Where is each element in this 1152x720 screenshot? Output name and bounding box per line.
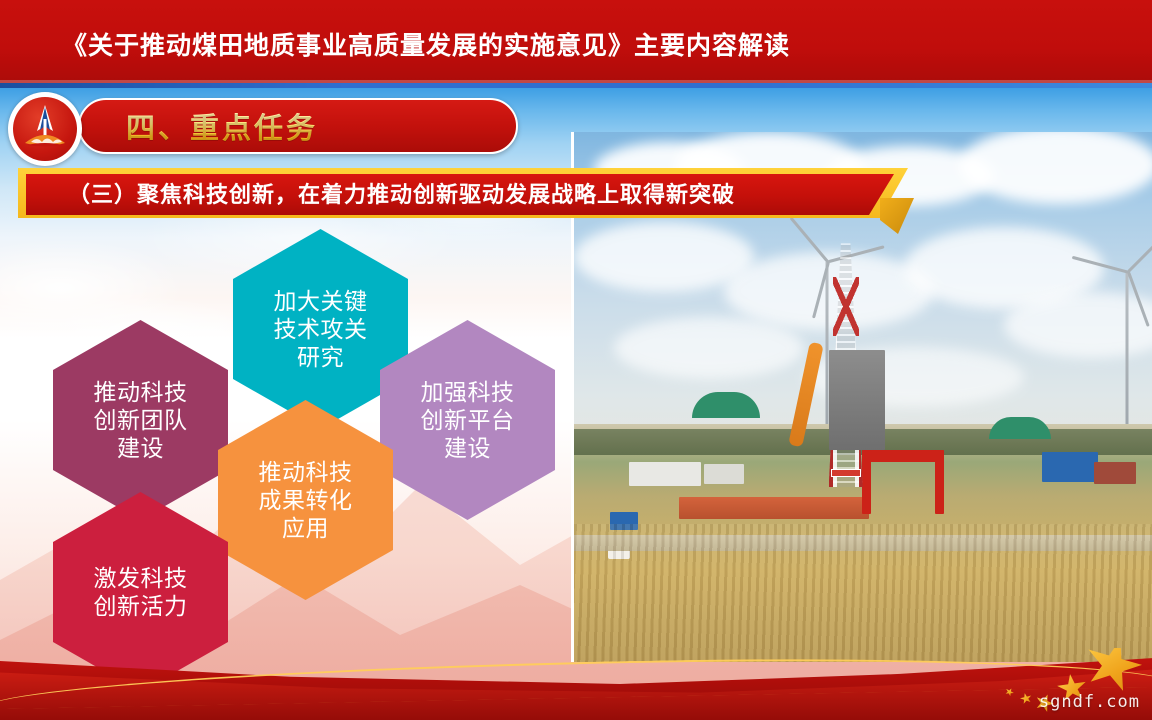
coalfield-geology-emblem-icon [8,92,82,166]
photo-site-gate [862,450,944,462]
photo-site-roof [679,497,869,519]
presentation-slide: 加大关键 技术攻关 研究 推动科技 创新团队 建设 加强科技 创新平台 建设 推… [0,0,1152,720]
rig-name-plate [831,469,861,477]
hexagon-line: 技术攻关 [274,315,368,343]
photo-site-building [704,464,744,484]
hexagon-line: 创新活力 [94,592,188,620]
hexagon-label: 推动科技 成果转化 应用 [259,458,353,542]
photo-site-tent [989,417,1051,439]
hexagon-line: 激发科技 [94,564,188,592]
rig-base-structure [829,350,885,450]
hexagon-achievement-transfer[interactable]: 推动科技 成果转化 应用 [218,400,393,600]
hexagon-label: 加大关键 技术攻关 研究 [274,287,368,371]
star-icon [1019,692,1033,706]
hexagon-line: 加强科技 [421,378,515,406]
hexagon-innovation-team[interactable]: 推动科技 创新团队 建设 [53,320,228,520]
photo-field-furrows [574,524,1152,662]
slide-header: 《关于推动煤田地质事业高质量发展的实施意见》主要内容解读 [0,0,1152,88]
page-title: 《关于推动煤田地质事业高质量发展的实施意见》主要内容解读 [62,26,790,62]
banner-body: （三）聚焦科技创新，在着力推动创新驱动发展战略上取得新突破 [18,168,908,218]
photo-site-container [1042,452,1098,482]
hexagon-line: 研究 [274,343,368,371]
hexagon-line: 推动科技 [259,458,353,486]
hexagon-label: 加强科技 创新平台 建设 [421,378,515,462]
hexagon-line: 创新团队 [94,406,188,434]
subtitle-label: （三）聚焦科技创新，在着力推动创新驱动发展战略上取得新突破 [68,177,735,209]
header-stripe-blue [0,83,1152,88]
hexagon-line: 建设 [94,434,188,462]
hexagon-label: 推动科技 创新团队 建设 [94,378,188,462]
hexagon-line: 加大关键 [274,287,368,315]
hexagon-line: 建设 [421,434,515,462]
photo-site-building [629,462,701,486]
turbine-blade [1127,272,1149,327]
rig-cross-brace [833,277,859,336]
emblem-inner [13,97,77,161]
hexagon-line: 应用 [259,514,353,542]
photo-site-container [1094,462,1136,484]
photo-cloud [614,317,804,379]
hexagon-line: 成果转化 [259,486,353,514]
hexagon-line: 推动科技 [94,378,188,406]
section-title-label: 四、重点任务 [126,105,318,147]
site-watermark: sgndf.com [1039,692,1140,712]
section-title-pill[interactable]: 四、重点任务 [78,98,518,154]
subtitle-banner[interactable]: （三）聚焦科技创新，在着力推动创新驱动发展战略上取得新突破 [18,168,908,218]
hexagon-label: 激发科技 创新活力 [94,564,188,620]
footer-ribbon: sgndf.com [0,648,1152,720]
photo-gate-post [935,450,944,514]
star-icon [1004,686,1016,697]
hexagon-line: 创新平台 [421,406,515,434]
